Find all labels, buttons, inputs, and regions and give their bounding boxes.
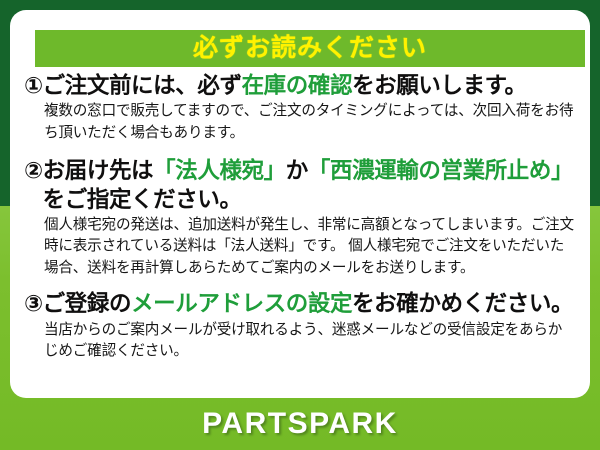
notice-item-2-heading-part-1: お届け先は [43, 158, 154, 183]
notice-item-3-heading-part-3: をお確かめください。 [352, 291, 573, 316]
notice-item-2-heading-highlight-2: 「西濃運輸の営業所止め」 [308, 158, 573, 183]
notice-item-2-heading-highlight-1: 「法人様宛」 [153, 158, 286, 183]
notice-items: ① ご注文前には、必ず在庫の確認をお願いします。 複数の窓口で販売してますので、… [10, 72, 590, 362]
notice-item-1: ① ご注文前には、必ず在庫の確認をお願いします。 複数の窓口で販売してますので、… [10, 72, 590, 144]
notice-item-1-heading: ① ご注文前には、必ず在庫の確認をお願いします。 [24, 72, 576, 100]
notice-item-1-heading-highlight: 在庫の確認 [242, 73, 353, 98]
notice-item-2-heading: ② お届け先は「法人様宛」か「西濃運輸の営業所止め」をご指定ください。 [24, 157, 576, 214]
banner-title: 必ずお読みください [193, 36, 427, 61]
circled-number-2-icon: ② [24, 157, 43, 185]
notice-item-2-detail: 個人様宅宛の発送は、追加送料が発生し、非常に高額となってしまいます。ご注文時に表… [44, 215, 576, 279]
white-card: 必ずお読みください ① ご注文前には、必ず在庫の確認をお願いします。 複数の窓口… [10, 10, 590, 398]
notice-item-3-detail: 当店からのご案内メールが受け取れるよう、迷惑メールなどの受信設定をあらかじめご確… [44, 320, 576, 363]
notice-item-1-detail: 複数の窓口で販売してますので、ご注文のタイミングによっては、次回入荷をお待ち頂い… [44, 101, 576, 144]
notice-item-2-heading-part-5: をご指定ください。 [43, 187, 242, 212]
notice-item-3-heading-part-1: ご登録の [43, 291, 131, 316]
notice-item-1-heading-part-1: ご注文前には、必ず [43, 73, 242, 98]
notice-item-3-heading: ③ ご登録のメールアドレスの設定をお確かめください。 [24, 290, 576, 318]
notice-graphic: 必ずお読みください ① ご注文前には、必ず在庫の確認をお願いします。 複数の窓口… [0, 0, 600, 450]
brand-name: PARTSPARK [202, 407, 398, 441]
notice-item-3-heading-highlight: メールアドレスの設定 [131, 291, 352, 316]
footer: PARTSPARK [0, 398, 600, 450]
circled-number-1-icon: ① [24, 72, 43, 100]
circled-number-3-icon: ③ [24, 290, 43, 318]
notice-item-2-heading-part-3: か [286, 158, 308, 183]
banner: 必ずお読みください [35, 30, 585, 67]
notice-item-3: ③ ご登録のメールアドレスの設定をお確かめください。 当店からのご案内メールが受… [10, 290, 590, 362]
notice-item-2: ② お届け先は「法人様宛」か「西濃運輸の営業所止め」をご指定ください。 個人様宅… [10, 157, 590, 279]
notice-item-1-heading-part-3: をお願いします。 [352, 73, 527, 98]
